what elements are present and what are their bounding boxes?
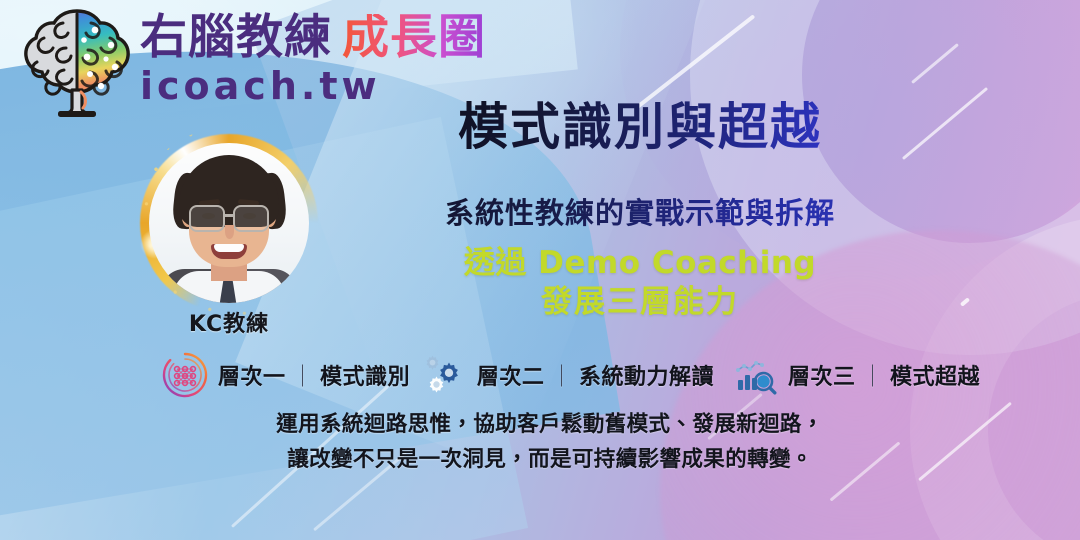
level-1-label: 層次一 xyxy=(218,365,286,390)
level-item-3[interactable]: 層次三｜模式超越 xyxy=(730,350,980,400)
promo-poster: 右腦教練 成長圈 icoach.tw KC教練 模式識別 xyxy=(0,0,1080,540)
brand-name-primary: 右腦教練 xyxy=(140,14,332,61)
footer-line-1: 運用系統迴路思惟，協助客戶鬆動舊模式、發展新迴路， xyxy=(200,408,900,443)
brain-tree-icon xyxy=(18,4,136,122)
level-3-label: 層次三 xyxy=(788,365,856,390)
footer-line-2: 讓改變不只是一次洞見，而是可持續影響成果的轉變。 xyxy=(200,443,900,478)
speaker-name: KC教練 xyxy=(149,306,309,338)
gears-icon xyxy=(419,350,469,400)
brand-wordmark: 右腦教練 成長圈 icoach.tw xyxy=(140,4,486,108)
speaker-avatar xyxy=(149,143,309,303)
brand-name-accent: 成長圈 xyxy=(342,14,486,61)
level-2-title: 系統動力解讀 xyxy=(579,365,714,390)
page-title: 模式識別與超越 xyxy=(400,100,880,154)
level-3-title: 模式超越 xyxy=(890,365,980,390)
level-2-label: 層次二 xyxy=(477,365,545,390)
highlight-line-1: 透過 Demo Coaching xyxy=(400,244,880,283)
page-subtitle: 系統性教練的實戰示範與拆解 xyxy=(380,190,900,232)
level-3-separator: ｜ xyxy=(861,365,884,390)
chart-magnifier-icon xyxy=(730,350,780,400)
speaker-photo xyxy=(149,143,309,303)
highlight-line-2: 發展三層能力 xyxy=(400,283,880,322)
level-item-2[interactable]: 層次二｜系統動力解讀 xyxy=(419,350,714,400)
neural-network-icon xyxy=(160,350,210,400)
level-2-separator: ｜ xyxy=(550,365,573,390)
levels-row: 層次一｜模式識別 xyxy=(160,348,980,402)
level-item-1[interactable]: 層次一｜模式識別 xyxy=(160,350,410,400)
highlight-block: 透過 Demo Coaching 發展三層能力 xyxy=(400,244,880,322)
level-1-separator: ｜ xyxy=(292,365,315,390)
level-1-title: 模式識別 xyxy=(320,365,410,390)
footer-description: 運用系統迴路思惟，協助客戶鬆動舊模式、發展新迴路， 讓改變不只是一次洞見，而是可… xyxy=(200,408,900,478)
